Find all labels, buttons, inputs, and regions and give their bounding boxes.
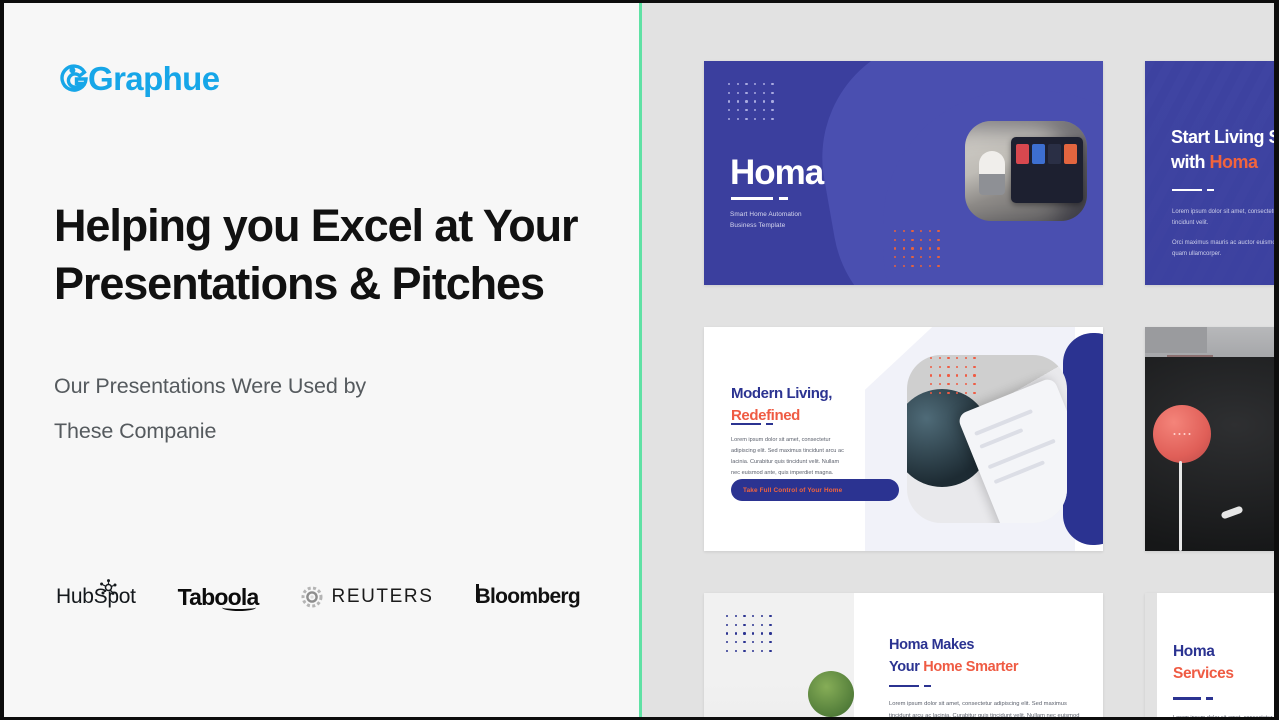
brand-name: Graphue — [88, 60, 220, 98]
slide-title-line-1: Modern Living, — [731, 385, 832, 402]
plant-leaves — [808, 671, 854, 717]
frame-edge-top — [0, 0, 1279, 3]
title-rule — [1173, 697, 1213, 700]
dot-grid-accent-icon — [930, 357, 976, 394]
hero-subhead-line-2: These Companie — [54, 409, 484, 454]
speaker-leds-icon — [1174, 433, 1191, 435]
decor-wall — [1145, 327, 1274, 357]
slide-title-line-1: Homa — [1173, 643, 1214, 660]
phone-shape — [957, 377, 1067, 523]
slide-title-line-2-plain: with — [1171, 152, 1210, 172]
slide-photo-smart-display — [965, 121, 1087, 221]
smart-speaker-shape — [979, 151, 1005, 195]
slide-body: Lorem ipsum dolor sit amet, consectetur … — [731, 435, 849, 479]
tablet-shape — [1011, 137, 1083, 203]
decor-left-edge — [1145, 593, 1157, 717]
slide-title-line-1: Start Living Sm — [1171, 127, 1274, 147]
taboola-smile-icon — [222, 604, 256, 611]
title-rule — [1172, 189, 1214, 191]
dot-grid-icon — [728, 83, 774, 120]
client-logo-reuters-label: REUTERS — [332, 586, 434, 608]
slide-title-line-2-accent: Home Smarter — [923, 659, 1018, 675]
deck-grid: Homa Smart Home Automation Business Temp… — [704, 61, 1274, 717]
page-root: Graphue Helping you Excel at Your Presen… — [0, 0, 1279, 720]
slide-subtitle-line-2: Business Template — [730, 220, 802, 231]
slide-title: Modern Living, Redefined — [731, 383, 832, 427]
slide-body-p2: Orci maximus mauris ac auctor euismod. D… — [1172, 238, 1274, 260]
slide-body-p1: Lorem ipsum dolor sit amet, consectetur … — [1172, 207, 1274, 229]
hubspot-sprocket-icon — [100, 579, 117, 596]
slide-title-line-2: Redefined — [731, 407, 800, 424]
client-logo-bloomberg-label: Bloomberg — [476, 585, 581, 609]
shelf-shape — [1145, 327, 1207, 353]
hero-subhead-line-1: Our Presentations Were Used by — [54, 364, 484, 409]
slide-thumbnail-homa-services[interactable]: Homa Services Lorem ipsum dolor sit amet… — [1145, 593, 1274, 717]
cord-shape — [1179, 461, 1182, 551]
decor-blue-pill — [1063, 333, 1103, 545]
page-title: Helping you Excel at Your Presentations … — [54, 197, 589, 312]
hero-subhead: Our Presentations Were Used by These Com… — [54, 364, 484, 453]
droplet-g-icon — [60, 63, 90, 95]
slide-title: Homa Makes Your Home Smarter — [889, 635, 1018, 679]
slide-title-line-2-accent: Homa — [1210, 152, 1258, 172]
slide-thumbnail-homa-makes-home-smarter[interactable]: Homa Makes Your Home Smarter Lorem ipsum… — [704, 593, 1103, 717]
slide-thumbnail-homa-cover[interactable]: Homa Smart Home Automation Business Temp… — [704, 61, 1103, 285]
slide-title: Homa — [730, 153, 823, 193]
deck-preview-panel: Homa Smart Home Automation Business Temp… — [642, 3, 1274, 717]
title-rule — [731, 423, 773, 425]
client-logo-row: HubSpot Taboola — [56, 582, 580, 612]
reuters-orbit-icon — [301, 586, 323, 608]
frame-edge-left — [0, 0, 4, 720]
client-logo-taboola: Taboola — [178, 582, 259, 612]
slide-title: Start Living Sm with Homa — [1171, 125, 1274, 175]
title-rule — [889, 685, 931, 687]
client-logo-reuters: REUTERS — [301, 582, 434, 612]
slide-photo-echo-plant — [704, 593, 854, 717]
client-logo-hubspot: HubSpot — [56, 582, 136, 612]
dot-grid-accent-icon — [894, 230, 940, 267]
slide-cta-button[interactable]: Take Full Control of Your Home — [731, 479, 899, 501]
bloomberg-bar-icon — [476, 584, 479, 602]
red-speaker-shape — [1153, 405, 1211, 463]
client-logo-hubspot-label: HubSpot — [56, 585, 136, 609]
plant-shape — [808, 671, 854, 717]
slide-thumbnail-start-living-smart[interactable]: Start Living Sm with Homa Lorem ipsum do… — [1145, 61, 1274, 285]
slide-subtitle: Smart Home Automation Business Template — [730, 209, 802, 231]
frame-edge-right — [1274, 0, 1279, 720]
brand-logo[interactable]: Graphue — [60, 53, 589, 105]
title-rule — [731, 197, 788, 200]
hero-panel: Graphue Helping you Excel at Your Presen… — [4, 3, 639, 717]
client-logo-bloomberg: Bloomberg — [476, 582, 581, 612]
slide-title-line-1: Homa Makes — [889, 637, 974, 653]
slide-title-line-2-plain: Your — [889, 659, 923, 675]
slide-subtitle-line-1: Smart Home Automation — [730, 209, 802, 220]
panel-divider — [639, 3, 642, 717]
slide-body: Lorem ipsum dolor sit amet, consectetur … — [889, 699, 1089, 717]
slide-body: Lorem ipsum dolor sit amet, consectetur … — [1172, 207, 1274, 260]
slide-thumbnail-modern-living[interactable]: Modern Living, Redefined Lorem ipsum dol… — [704, 327, 1103, 551]
dot-grid-icon — [726, 615, 772, 652]
slide-thumbnail-smart-speaker-photo[interactable]: M H Lo ad la Or Du an — [1145, 327, 1274, 551]
slide-title: Homa Services — [1173, 641, 1234, 686]
slide-title-line-2: Services — [1173, 665, 1234, 682]
